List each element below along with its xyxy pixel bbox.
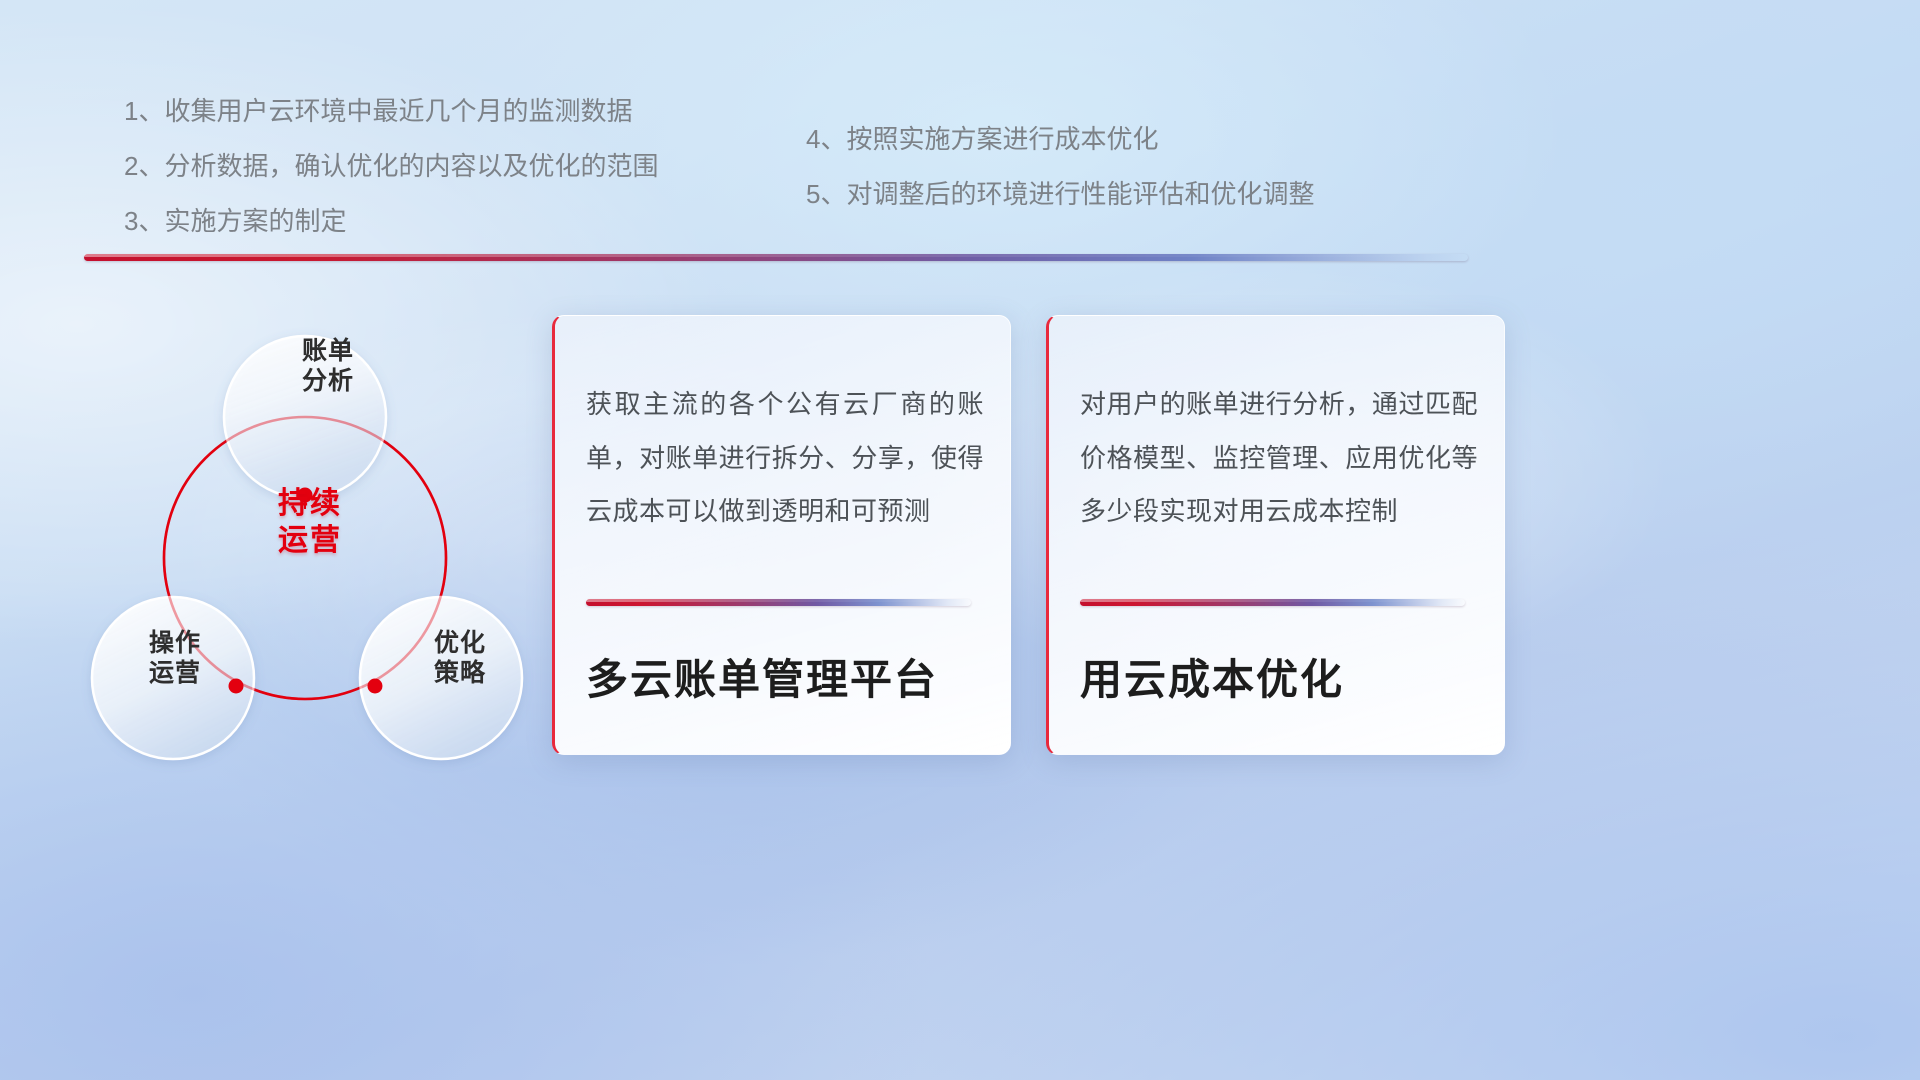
venn-label-line: 分析 — [268, 367, 388, 397]
venn-label-line: 操作 — [115, 629, 235, 659]
steps-right-column: 4、按照实施方案进行成本优化 5、对调整后的环境进行性能评估和优化调整 — [806, 126, 1314, 236]
step-item: 4、按照实施方案进行成本优化 — [806, 126, 1314, 152]
venn-center-line: 持续 — [245, 486, 375, 523]
step-item: 3、实施方案的制定 — [124, 208, 658, 234]
card-body-text: 获取主流的各个公有云厂商的账单，对账单进行拆分、分享，使得云成本可以做到透明和可… — [586, 378, 984, 539]
venn-node-bottom-right — [368, 679, 383, 694]
venn-diagram: 账单 分析 操作 运营 优化 策略 持续 运营 — [70, 296, 540, 766]
card-divider — [1080, 599, 1465, 606]
venn-label-line: 运营 — [115, 659, 235, 689]
venn-label-line: 策略 — [400, 659, 520, 689]
venn-label-strategy: 优化 策略 — [400, 629, 520, 688]
venn-label-line: 账单 — [268, 337, 388, 367]
steps-left-column: 1、收集用户云环境中最近几个月的监测数据 2、分析数据，确认优化的内容以及优化的… — [124, 98, 658, 263]
section-divider — [84, 254, 1468, 261]
slide-stage: 1、收集用户云环境中最近几个月的监测数据 2、分析数据，确认优化的内容以及优化的… — [0, 0, 1920, 1080]
card-title: 用云成本优化 — [1080, 646, 1344, 707]
step-item: 5、对调整后的环境进行性能评估和优化调整 — [806, 181, 1314, 207]
card-body-text: 对用户的账单进行分析，通过匹配价格模型、监控管理、应用优化等多少段实现对用云成本… — [1080, 378, 1478, 539]
feature-card-multi-cloud-billing[interactable]: 获取主流的各个公有云厂商的账单，对账单进行拆分、分享，使得云成本可以做到透明和可… — [552, 315, 1011, 755]
venn-label-line: 优化 — [400, 629, 520, 659]
step-item: 2、分析数据，确认优化的内容以及优化的范围 — [124, 153, 658, 179]
venn-center-line: 运营 — [245, 523, 375, 560]
card-divider — [586, 599, 971, 606]
venn-label-bill-analysis: 账单 分析 — [268, 337, 388, 396]
step-item: 1、收集用户云环境中最近几个月的监测数据 — [124, 98, 658, 124]
card-title: 多云账单管理平台 — [586, 646, 938, 707]
feature-card-cloud-cost-optimization[interactable]: 对用户的账单进行分析，通过匹配价格模型、监控管理、应用优化等多少段实现对用云成本… — [1046, 315, 1505, 755]
venn-label-operations: 操作 运营 — [115, 629, 235, 688]
venn-center-label: 持续 运营 — [245, 486, 375, 559]
